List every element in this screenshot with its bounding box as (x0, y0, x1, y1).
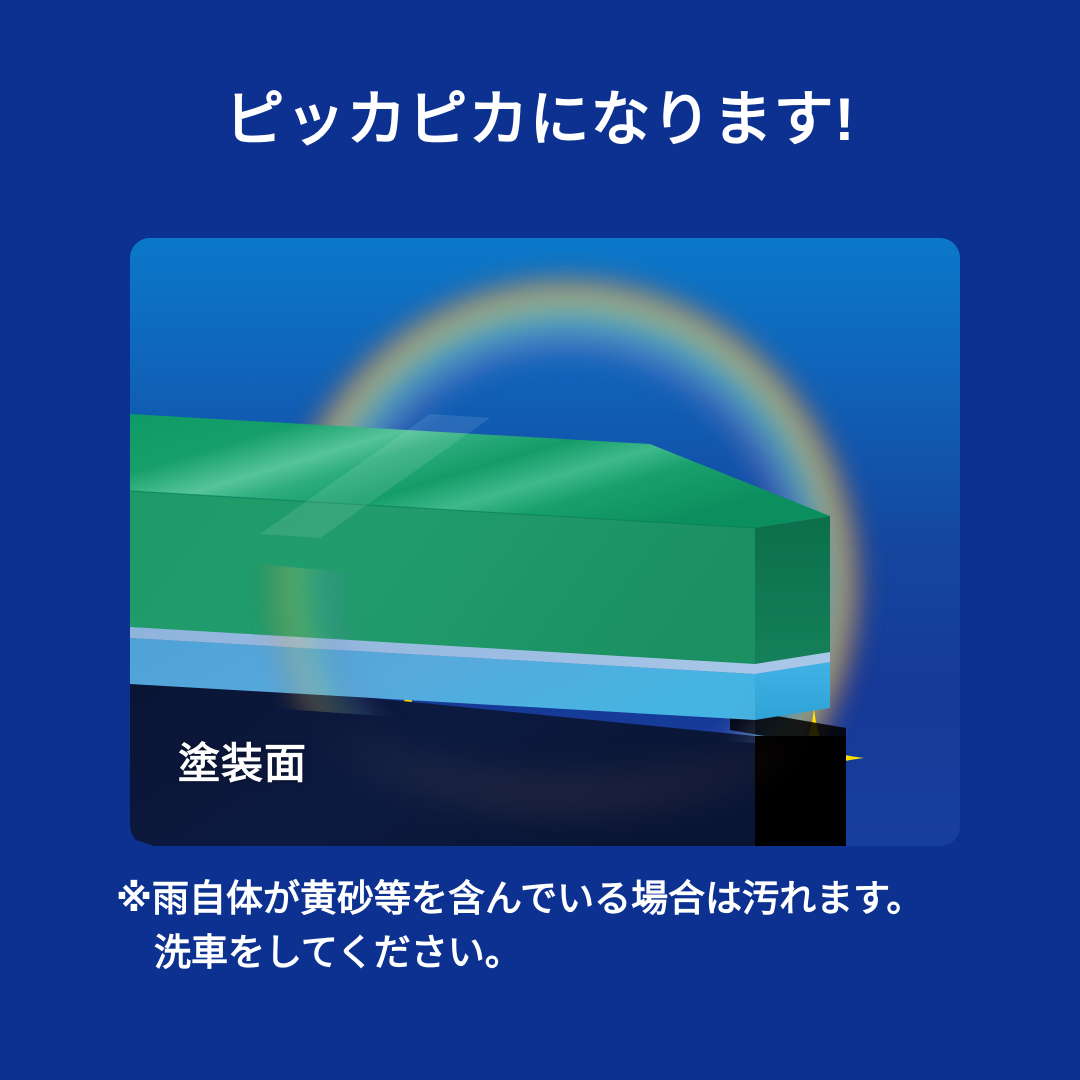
page-title: ピッカピカになります! (0, 88, 1080, 151)
footnote-line-1: ※雨自体が黄砂等を含んでいる場合は汚れます。 (116, 878, 923, 919)
footnote: ※雨自体が黄砂等を含んでいる場合は汚れます。 洗車をしてください。 (116, 872, 1016, 979)
poster-root: ピッカピカになります! (0, 0, 1080, 1080)
illustration-panel: 塗装面 (130, 238, 960, 846)
footnote-line-2: 洗車をしてください。 (116, 926, 1016, 980)
surface-label: 塗装面 (178, 730, 307, 791)
top-coat-side-face (755, 516, 830, 664)
